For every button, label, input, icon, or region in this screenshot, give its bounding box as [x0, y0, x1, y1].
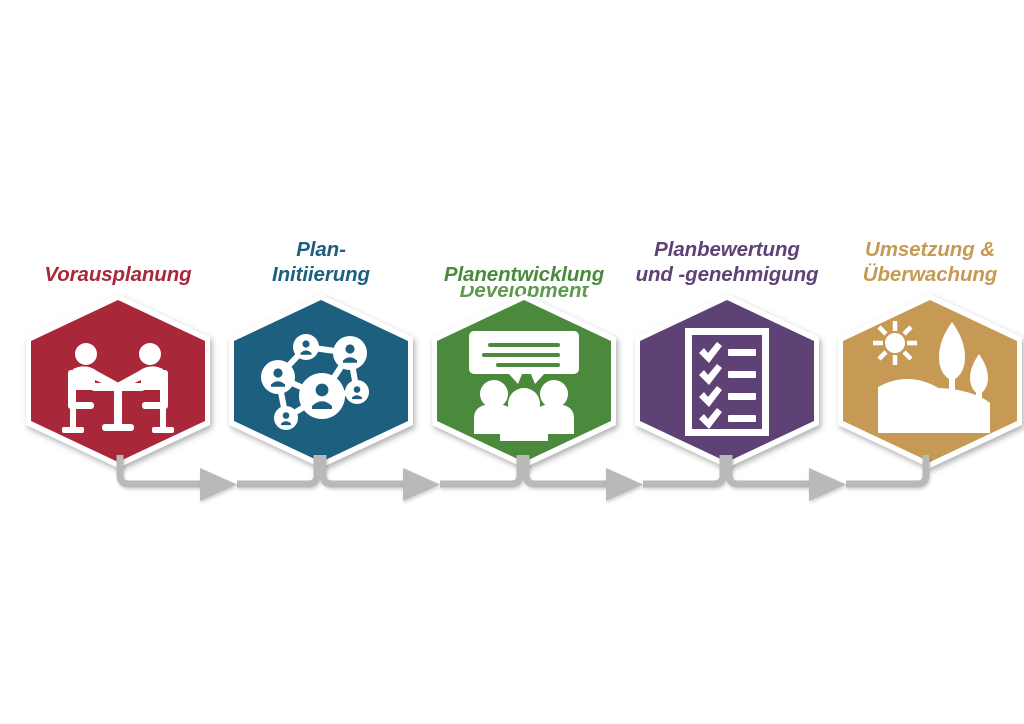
stage-2-label: Plan- Initiierung	[221, 237, 421, 287]
stage-3[interactable]: Planentwicklung Development	[424, 225, 624, 287]
stage-3-label: Planentwicklung	[424, 262, 624, 287]
arrow-head-2	[403, 468, 440, 501]
stage-3-label-wrap: Planentwicklung Development	[424, 225, 624, 287]
stage-1-hexagon[interactable]	[20, 291, 216, 471]
arrow-head-3	[606, 468, 643, 501]
stage-5[interactable]: Umsetzung & Überwachung	[830, 225, 1024, 287]
stage-4-label: Planbewertung und -genehmigung	[627, 237, 827, 287]
stage-5-label-wrap: Umsetzung & Überwachung	[830, 225, 1024, 287]
stage-1-label-wrap: Vorausplanung	[18, 225, 218, 287]
stage-1[interactable]: Vorausplanung	[18, 225, 218, 287]
stage-2[interactable]: Plan- Initiierung	[221, 225, 421, 287]
stage-4-hexagon[interactable]	[629, 291, 825, 471]
arrow-head-4	[809, 468, 846, 501]
stage-2-label-wrap: Plan- Initiierung	[221, 225, 421, 287]
checklist-icon	[685, 328, 769, 436]
stage-4-label-wrap: Planbewertung und -genehmigung	[627, 225, 827, 287]
stage-5-hexagon[interactable]	[832, 291, 1024, 471]
sun-icon	[873, 321, 917, 365]
process-flow-diagram: Vorausplanung	[0, 0, 1024, 724]
arrow-head-1	[200, 468, 237, 501]
stage-2-hexagon[interactable]	[223, 291, 419, 471]
stage-3-hexagon[interactable]	[426, 291, 622, 471]
stage-1-label: Vorausplanung	[18, 262, 218, 287]
stage-4[interactable]: Planbewertung und -genehmigung	[627, 225, 827, 287]
stage-5-label: Umsetzung & Überwachung	[830, 237, 1024, 287]
